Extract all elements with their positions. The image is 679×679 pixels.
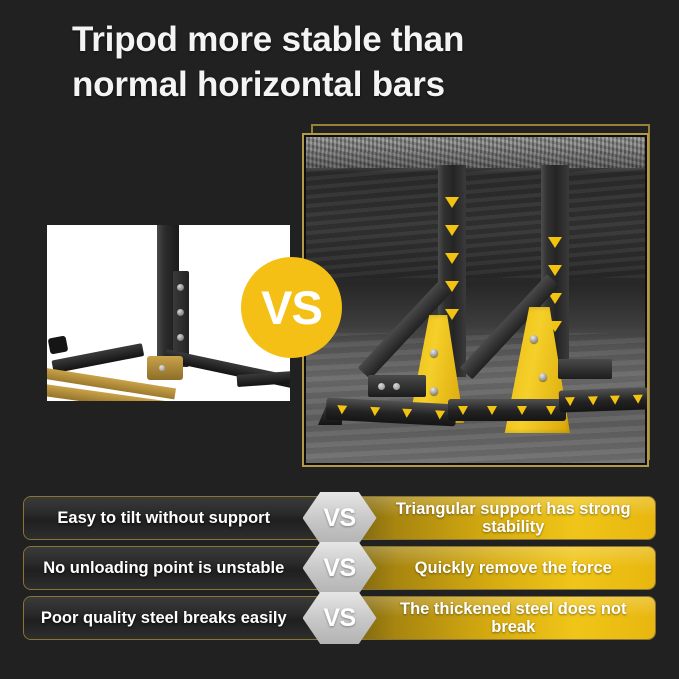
bolt-icon: [393, 383, 400, 390]
down-arrow-icon: [633, 394, 643, 403]
bolt-icon: [378, 383, 385, 390]
down-arrow-icon: [370, 406, 380, 416]
bolt-icon: [539, 373, 547, 381]
comparison-pro-side: Quickly remove the force: [340, 547, 656, 589]
down-arrow-icon: [337, 405, 347, 415]
right-product-photo: [302, 133, 649, 467]
bolt-icon: [159, 365, 165, 371]
down-arrow-icon: [458, 406, 468, 415]
headline-line-2: normal horizontal bars: [72, 63, 652, 108]
bolt-icon: [530, 335, 538, 343]
base-rail-shape: [448, 399, 566, 421]
comparison-con-text: Poor quality steel breaks easily: [41, 609, 287, 627]
center-vs-label: VS: [261, 284, 322, 331]
page-title: Tripod more stable than normal horizonta…: [72, 18, 652, 108]
bolt-icon: [430, 349, 438, 357]
bolt-icon: [177, 334, 184, 341]
base-rail-shape: [559, 387, 649, 412]
down-arrow-icon: [548, 265, 562, 276]
rail-arrow-row: [448, 399, 566, 421]
bolt-icon: [430, 387, 438, 395]
down-arrow-icon: [610, 395, 620, 404]
comparison-pro-side: Triangular support has strong stability: [340, 497, 656, 539]
comparison-row: Easy to tilt without support VS Triangul…: [23, 496, 656, 540]
down-arrow-icon: [402, 408, 412, 418]
down-arrow-icon: [434, 410, 444, 420]
comparison-pro-text: The thickened steel does not break: [382, 600, 646, 637]
down-arrow-icon: [487, 406, 497, 415]
down-arrow-icon: [445, 225, 459, 236]
gold-junction-block-shape: [147, 356, 183, 380]
down-arrow-icon: [546, 406, 556, 415]
down-arrow-icon: [588, 396, 598, 405]
comparison-pro-text: Triangular support has strong stability: [382, 500, 646, 537]
comparison-con-side: Poor quality steel breaks easily: [24, 597, 340, 639]
headline-line-1: Tripod more stable than: [72, 20, 464, 59]
down-arrow-icon: [548, 237, 562, 248]
scene-background: [306, 137, 645, 463]
center-vs-badge: VS: [241, 257, 342, 358]
comparison-con-text: Easy to tilt without support: [57, 509, 270, 527]
vs-hex-label: VS: [323, 554, 355, 583]
bolt-icon: [177, 309, 184, 316]
comparison-list: Easy to tilt without support VS Triangul…: [23, 496, 656, 646]
foot-cap-shape: [48, 335, 69, 354]
promo-graphic: Tripod more stable than normal horizonta…: [0, 0, 679, 679]
comparison-row: No unloading point is unstable VS Quickl…: [23, 546, 656, 590]
bracket-plate-shape: [558, 359, 612, 379]
down-arrow-icon: [445, 253, 459, 264]
comparison-pro-text: Quickly remove the force: [415, 559, 612, 577]
down-arrow-icon: [565, 397, 575, 406]
down-arrow-icon: [445, 197, 459, 208]
comparison-pro-side: The thickened steel does not break: [340, 597, 656, 639]
comparison-con-side: Easy to tilt without support: [24, 497, 340, 539]
vs-hex-label: VS: [323, 504, 355, 533]
bolt-icon: [177, 284, 184, 291]
comparison-con-text: No unloading point is unstable: [43, 559, 284, 577]
wall-texture: [306, 168, 645, 278]
comparison-con-side: No unloading point is unstable: [24, 547, 340, 589]
rail-arrow-row: [559, 387, 649, 412]
concrete-band-texture: [306, 137, 645, 168]
comparison-row: Poor quality steel breaks easily VS The …: [23, 596, 656, 640]
vs-hex-label: VS: [323, 604, 355, 633]
down-arrow-icon: [517, 406, 527, 415]
